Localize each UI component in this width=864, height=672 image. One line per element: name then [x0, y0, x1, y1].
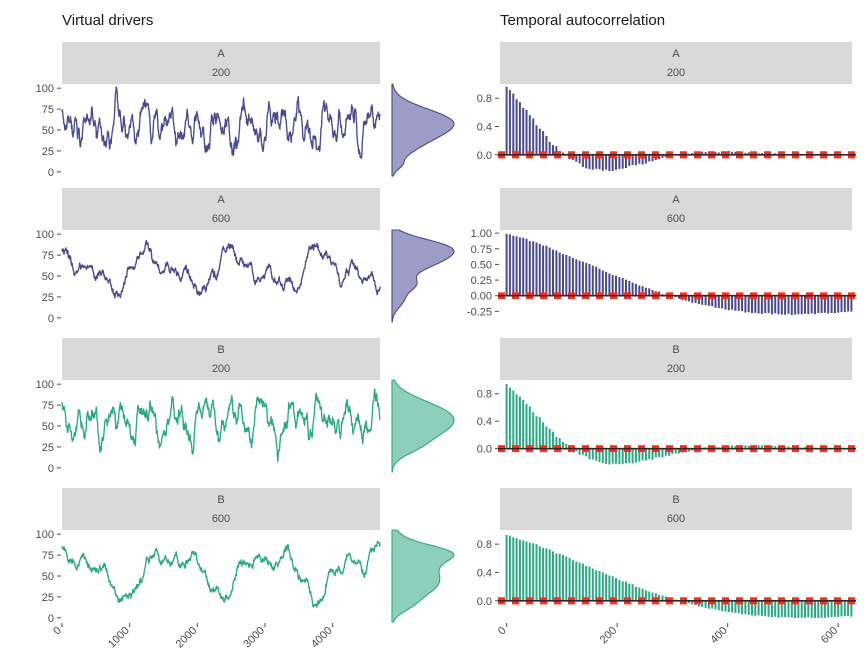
strip-period-label-left-row2: 600 [212, 213, 230, 225]
ts-ytick-label-row4-2: 50 [42, 571, 54, 583]
ts-ytick-label-row4-4: 100 [36, 529, 54, 541]
ts-ytick-label-row4-0: 0 [48, 613, 54, 625]
acf-ytick-label-row4-1: 0.4 [477, 567, 492, 579]
timeseries-line-B-600 [62, 542, 380, 608]
acf-bars-A-600 [507, 234, 852, 315]
acf-ytick-label-row2-3: 0.50 [471, 259, 492, 271]
acf-ytick-label-row3-2: 0.8 [477, 389, 492, 401]
strip-period-label-left-row1: 200 [212, 67, 230, 79]
acf-bars-A-200 [507, 87, 852, 171]
density-area-A-200 [392, 84, 454, 176]
ts-ytick-label-row2-3: 75 [42, 250, 54, 262]
strip-period-label-right-row3: 200 [667, 363, 685, 375]
ts-ytick-label-row1-2: 50 [42, 125, 54, 137]
strip-scenario-label-right-row3: B [672, 344, 679, 356]
ts-ytick-label-row2-2: 50 [42, 271, 54, 283]
strip-scenario-label-right-row4: B [672, 494, 679, 506]
strip-period-label-right-row1: 200 [667, 67, 685, 79]
strip-scenario-label-left-row3: B [217, 344, 224, 356]
timeseries-line-A-600 [62, 241, 380, 298]
acf-ytick-label-row1-0: 0.0 [477, 150, 492, 162]
density-area-B-600 [392, 530, 454, 622]
acf-xtick-label-3: 600 [819, 625, 840, 646]
acf-ytick-label-row2-0: -0.25 [467, 306, 492, 318]
ts-xtick-label-2: 2000 [174, 625, 200, 651]
acf-ytick-label-row1-2: 0.8 [477, 93, 492, 105]
acf-ytick-label-row2-5: 1.00 [471, 228, 492, 240]
ts-xtick-label-1: 1000 [106, 625, 132, 651]
ts-ytick-label-row3-3: 75 [42, 400, 54, 412]
strip-period-label-left-row4: 600 [212, 513, 230, 525]
acf-ytick-label-row4-2: 0.8 [477, 539, 492, 551]
ts-ytick-label-row1-0: 0 [48, 167, 54, 179]
ts-ytick-label-row4-3: 75 [42, 550, 54, 562]
strip-scenario-label-right-row2: A [672, 194, 680, 206]
strip-scenario-label-left-row1: A [217, 48, 225, 60]
timeseries-line-B-200 [62, 389, 380, 462]
ts-ytick-label-row3-2: 50 [42, 421, 54, 433]
acf-ytick-label-row2-4: 0.75 [471, 244, 492, 256]
density-area-A-600 [392, 230, 454, 322]
ts-ytick-label-row1-4: 100 [36, 83, 54, 95]
ts-ytick-label-row2-4: 100 [36, 229, 54, 241]
ts-ytick-label-row3-0: 0 [48, 463, 54, 475]
acf-ytick-label-row3-0: 0.0 [477, 444, 492, 456]
ts-xtick-label-3: 3000 [241, 625, 267, 651]
ts-ytick-label-row3-4: 100 [36, 379, 54, 391]
acf-xtick-label-1: 200 [598, 625, 619, 646]
ts-ytick-label-row4-1: 25 [42, 592, 54, 604]
acf-bars-B-600 [507, 535, 852, 618]
plot-surface: A200A20002550751000.00.40.8A600A60002550… [0, 0, 864, 672]
strip-period-label-right-row4: 600 [667, 513, 685, 525]
ts-ytick-label-row3-1: 25 [42, 442, 54, 454]
ts-xtick-label-4: 4000 [309, 625, 335, 651]
ts-ytick-label-row1-1: 25 [42, 146, 54, 158]
timeseries-line-A-200 [62, 87, 380, 158]
acf-xtick-label-2: 400 [708, 625, 729, 646]
acf-ytick-label-row4-0: 0.0 [477, 596, 492, 608]
right-panel-title: Temporal autocorrelation [500, 12, 665, 29]
acf-ytick-label-row1-1: 0.4 [477, 121, 492, 133]
ts-ytick-label-row1-3: 75 [42, 104, 54, 116]
figure-canvas: Virtual drivers Temporal autocorrelation… [0, 0, 864, 672]
acf-ytick-label-row3-1: 0.4 [477, 416, 492, 428]
acf-ytick-label-row2-2: 0.25 [471, 275, 492, 287]
left-panel-title: Virtual drivers [62, 12, 153, 29]
strip-period-label-left-row3: 200 [212, 363, 230, 375]
strip-scenario-label-left-row4: B [217, 494, 224, 506]
ts-ytick-label-row2-1: 25 [42, 292, 54, 304]
density-area-B-200 [392, 380, 454, 472]
acf-ytick-label-row2-1: 0.00 [471, 291, 492, 303]
ts-ytick-label-row2-0: 0 [48, 313, 54, 325]
acf-bars-B-200 [507, 384, 852, 464]
strip-scenario-label-right-row1: A [672, 48, 680, 60]
strip-period-label-right-row2: 600 [667, 213, 685, 225]
strip-scenario-label-left-row2: A [217, 194, 225, 206]
